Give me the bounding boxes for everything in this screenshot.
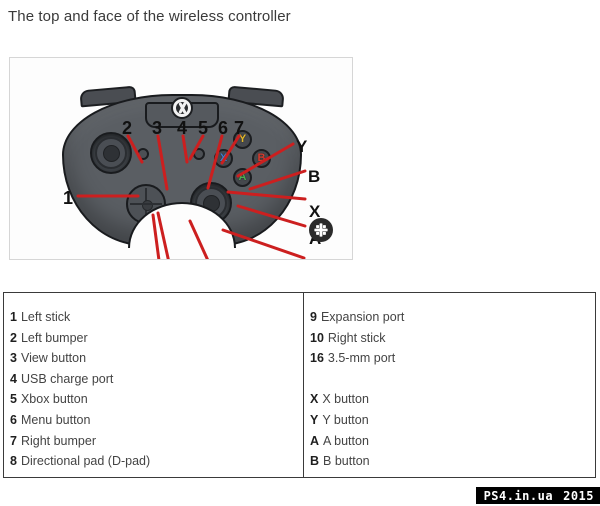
legend-row-spacer	[310, 369, 595, 390]
legend-key: 4	[10, 369, 17, 390]
legend-key: A	[310, 431, 319, 452]
wireless-controller-illustration: Y B A X	[62, 84, 302, 249]
legend-row: 2 Left bumper	[10, 328, 303, 349]
callout-label-y: Y	[296, 138, 307, 155]
legend-key: B	[310, 451, 319, 472]
legend-text: Expansion port	[321, 307, 404, 328]
legend-row: 1 Left stick	[10, 307, 303, 328]
legend-text: Directional pad (D-pad)	[21, 451, 150, 472]
legend-row: X X button	[310, 389, 595, 410]
callout-label-1: 1	[63, 189, 73, 207]
legend-text: B button	[323, 451, 370, 472]
left-stick-cap	[103, 145, 120, 162]
legend-text: Menu button	[21, 410, 91, 431]
legend-row: Y Y button	[310, 410, 595, 431]
legend-key: Y	[310, 410, 318, 431]
legend-row: 5 Xbox button	[10, 389, 303, 410]
a-button-shape: A	[233, 168, 252, 187]
page-title: The top and face of the wireless control…	[8, 8, 291, 25]
legend-key: 8	[10, 451, 17, 472]
legend-row: 8 Directional pad (D-pad)	[10, 451, 303, 472]
callout-label-4: 4	[177, 119, 187, 137]
legend-key: 3	[10, 348, 17, 369]
legend-row: 6 Menu button	[10, 410, 303, 431]
callout-label-3: 3	[152, 119, 162, 137]
move-expand-glyph	[313, 222, 329, 238]
legend-row: 10 Right stick	[310, 328, 595, 349]
legend-key: 16	[310, 348, 324, 369]
left-stick-ring	[95, 137, 127, 169]
legend-text: X button	[322, 389, 369, 410]
controller-body-shape: Y B A X	[62, 94, 302, 246]
legend-text: Y button	[322, 410, 368, 431]
legend-text: View button	[21, 348, 86, 369]
legend-row: A A button	[310, 431, 595, 452]
legend-key: 9	[310, 307, 317, 328]
legend-key: 10	[310, 328, 324, 349]
abxy-button-cluster: Y B A X	[214, 130, 272, 188]
legend-key: 2	[10, 328, 17, 349]
callout-label-5: 5	[198, 119, 208, 137]
menu-button-shape	[193, 148, 205, 160]
watermark-year: 2015	[563, 489, 594, 503]
legend-text: 3.5-mm port	[328, 348, 395, 369]
callout-label-b: B	[308, 168, 320, 185]
legend-key: 1	[10, 307, 17, 328]
legend-text: Right bumper	[21, 431, 96, 452]
legend-row: 3 View button	[10, 348, 303, 369]
x-button-shape: X	[214, 149, 233, 168]
left-stick-shape	[90, 132, 132, 174]
legend-key: 5	[10, 389, 17, 410]
site-watermark: PS4.in.ua 2015	[476, 487, 600, 504]
view-button-shape	[137, 148, 149, 160]
legend-text: A button	[323, 431, 369, 452]
legend-text: Left bumper	[21, 328, 88, 349]
legend-row: B B button	[310, 451, 595, 472]
legend-key: 7	[10, 431, 17, 452]
legend-column-left: 1 Left stick 2 Left bumper 3 View button…	[4, 293, 303, 477]
legend-text: USB charge port	[21, 369, 113, 390]
watermark-site: PS4.in.ua	[484, 489, 554, 503]
legend-text: Right stick	[328, 328, 386, 349]
move-expand-icon[interactable]	[309, 218, 333, 242]
legend-row: 4 USB charge port	[10, 369, 303, 390]
xbox-guide-button-shape	[171, 97, 193, 119]
figure-stage: Y B A X	[10, 58, 352, 259]
callout-label-2: 2	[122, 119, 132, 137]
callout-label-7: 7	[234, 119, 244, 137]
b-button-shape: B	[252, 149, 271, 168]
xbox-logo-icon	[176, 102, 188, 114]
legend-text: Left stick	[21, 307, 70, 328]
legend-key: 6	[10, 410, 17, 431]
legend-key: X	[310, 389, 318, 410]
legend-column-right: 9 Expansion port 10 Right stick 16 3.5-m…	[303, 293, 595, 477]
legend-row: 9 Expansion port	[310, 307, 595, 328]
legend-row: 7 Right bumper	[10, 431, 303, 452]
controller-figure: Y B A X	[9, 57, 353, 260]
legend-row: 16 3.5-mm port	[310, 348, 595, 369]
legend-table: 1 Left stick 2 Left bumper 3 View button…	[3, 292, 596, 478]
legend-text: Xbox button	[21, 389, 88, 410]
callout-label-6: 6	[218, 119, 228, 137]
